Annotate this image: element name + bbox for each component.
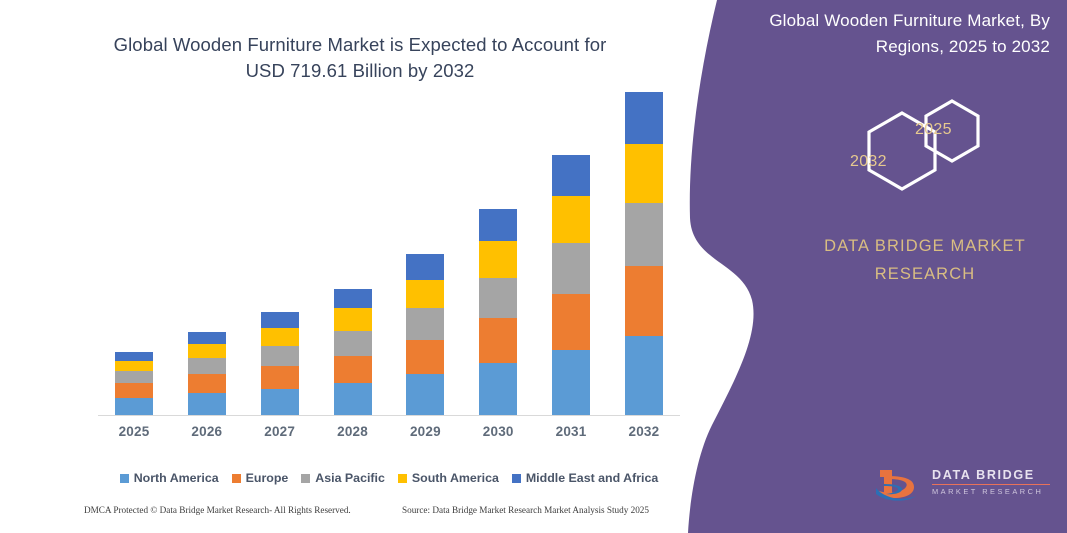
bar-segment bbox=[552, 243, 590, 294]
bar-segment bbox=[188, 344, 226, 358]
bar-segment bbox=[115, 361, 153, 371]
bar-segment bbox=[261, 328, 299, 346]
bar-segment bbox=[188, 332, 226, 344]
bar-segment bbox=[625, 266, 663, 335]
source-note: Source: Data Bridge Market Research Mark… bbox=[402, 505, 649, 515]
legend-swatch-icon bbox=[398, 474, 407, 483]
legend-item[interactable]: Asia Pacific bbox=[301, 471, 385, 485]
bar-segment bbox=[552, 196, 590, 243]
bar-segment bbox=[261, 389, 299, 415]
bar-segment bbox=[625, 336, 663, 415]
stacked-bar bbox=[479, 209, 517, 415]
bar-segment bbox=[261, 366, 299, 388]
x-axis-tick-labels: 20252026202720282029203020312032 bbox=[98, 424, 680, 439]
dbmr-logo: DATA BRIDGE MARKET RESEARCH bbox=[872, 466, 1052, 506]
brand-line-2: RESEARCH bbox=[800, 260, 1050, 288]
legend-swatch-icon bbox=[512, 474, 521, 483]
hexagon-2025-label: 2025 bbox=[915, 121, 952, 139]
bar-segment bbox=[261, 346, 299, 366]
legend-swatch-icon bbox=[120, 474, 129, 483]
hexagon-graphic: 2032 2025 bbox=[812, 95, 992, 205]
x-tick-2025: 2025 bbox=[98, 424, 170, 439]
bar-segment bbox=[406, 280, 444, 308]
legend-label: Asia Pacific bbox=[315, 471, 385, 485]
legend-item[interactable]: Middle East and Africa bbox=[512, 471, 658, 485]
bar-column-2026 bbox=[171, 120, 243, 415]
bar-column-2030 bbox=[462, 120, 534, 415]
chart-plot-area bbox=[98, 120, 680, 416]
logo-title: DATA BRIDGE bbox=[932, 468, 1050, 482]
hexagon-shapes bbox=[812, 95, 992, 205]
infographic-canvas: Global Wooden Furniture Market is Expect… bbox=[0, 0, 1067, 533]
bar-segment bbox=[625, 92, 663, 145]
x-tick-2028: 2028 bbox=[317, 424, 389, 439]
bar-segment bbox=[334, 383, 372, 415]
bar-segment bbox=[625, 203, 663, 266]
x-tick-2029: 2029 bbox=[389, 424, 461, 439]
legend-swatch-icon bbox=[232, 474, 241, 483]
legend-swatch-icon bbox=[301, 474, 310, 483]
bar-segment bbox=[334, 289, 372, 308]
bar-segment bbox=[552, 294, 590, 350]
bar-column-2031 bbox=[535, 120, 607, 415]
bar-segment bbox=[115, 352, 153, 361]
bar-segment bbox=[188, 358, 226, 374]
legend-item[interactable]: North America bbox=[120, 471, 219, 485]
bar-segment bbox=[406, 254, 444, 279]
x-tick-2027: 2027 bbox=[244, 424, 316, 439]
dmca-notice: DMCA Protected © Data Bridge Market Rese… bbox=[84, 505, 351, 515]
panel-title: Global Wooden Furniture Market, By Regio… bbox=[735, 8, 1050, 60]
bar-column-2025 bbox=[98, 120, 170, 415]
stacked-bar bbox=[406, 254, 444, 415]
bar-segment bbox=[334, 356, 372, 383]
bar-segment bbox=[406, 374, 444, 415]
bar-segment bbox=[115, 398, 153, 415]
panel-title-line-2: Regions, 2025 to 2032 bbox=[735, 34, 1050, 60]
bar-segment bbox=[479, 318, 517, 363]
hexagon-2032-label: 2032 bbox=[850, 153, 887, 171]
bar-segment bbox=[625, 144, 663, 203]
bar-segment bbox=[334, 308, 372, 330]
bar-column-2027 bbox=[244, 120, 316, 415]
panel-title-line-1: Global Wooden Furniture Market, By bbox=[735, 8, 1050, 34]
bar-column-2029 bbox=[389, 120, 461, 415]
brand-line-1: DATA BRIDGE MARKET bbox=[800, 232, 1050, 260]
brand-name: DATA BRIDGE MARKET RESEARCH bbox=[800, 232, 1050, 288]
bar-segment bbox=[479, 241, 517, 278]
logo-divider bbox=[932, 484, 1050, 485]
bar-segment bbox=[115, 371, 153, 383]
chart-title-line-1: Global Wooden Furniture Market is Expect… bbox=[60, 32, 660, 58]
x-tick-2030: 2030 bbox=[462, 424, 534, 439]
bar-segment bbox=[261, 312, 299, 327]
stacked-bar bbox=[625, 92, 663, 415]
bar-segment bbox=[188, 393, 226, 415]
bar-segment bbox=[479, 363, 517, 415]
x-tick-2031: 2031 bbox=[535, 424, 607, 439]
legend-label: North America bbox=[134, 471, 219, 485]
logo-subtitle: MARKET RESEARCH bbox=[932, 487, 1050, 496]
legend-label: Middle East and Africa bbox=[526, 471, 658, 485]
legend-item[interactable]: Europe bbox=[232, 471, 289, 485]
bar-segment bbox=[479, 209, 517, 242]
chart-legend: North AmericaEuropeAsia PacificSouth Ame… bbox=[98, 471, 680, 485]
stacked-bar bbox=[115, 352, 153, 415]
stacked-bar bbox=[188, 332, 226, 415]
x-tick-2032: 2032 bbox=[608, 424, 680, 439]
legend-item[interactable]: South America bbox=[398, 471, 499, 485]
bar-group bbox=[98, 120, 680, 415]
legend-label: Europe bbox=[246, 471, 289, 485]
stacked-bar bbox=[334, 289, 372, 415]
legend-label: South America bbox=[412, 471, 499, 485]
bar-segment bbox=[334, 331, 372, 356]
x-axis-line bbox=[98, 415, 680, 416]
bar-segment bbox=[406, 340, 444, 375]
stacked-bar bbox=[261, 312, 299, 415]
chart-title-line-2: USD 719.61 Billion by 2032 bbox=[60, 58, 660, 84]
logo-text-block: DATA BRIDGE MARKET RESEARCH bbox=[932, 468, 1050, 496]
page-title: Global Wooden Furniture Market is Expect… bbox=[60, 32, 660, 84]
bar-segment bbox=[552, 350, 590, 415]
bar-column-2028 bbox=[317, 120, 389, 415]
bar-segment bbox=[188, 374, 226, 392]
x-tick-2026: 2026 bbox=[171, 424, 243, 439]
bar-segment bbox=[115, 383, 153, 397]
bar-segment bbox=[406, 308, 444, 340]
bar-column-2032 bbox=[608, 120, 680, 415]
bar-segment bbox=[552, 155, 590, 197]
footer: DMCA Protected © Data Bridge Market Rese… bbox=[0, 505, 700, 527]
bar-segment bbox=[479, 278, 517, 319]
stacked-bar bbox=[552, 155, 590, 415]
dbmr-b-mark-icon bbox=[872, 466, 928, 504]
